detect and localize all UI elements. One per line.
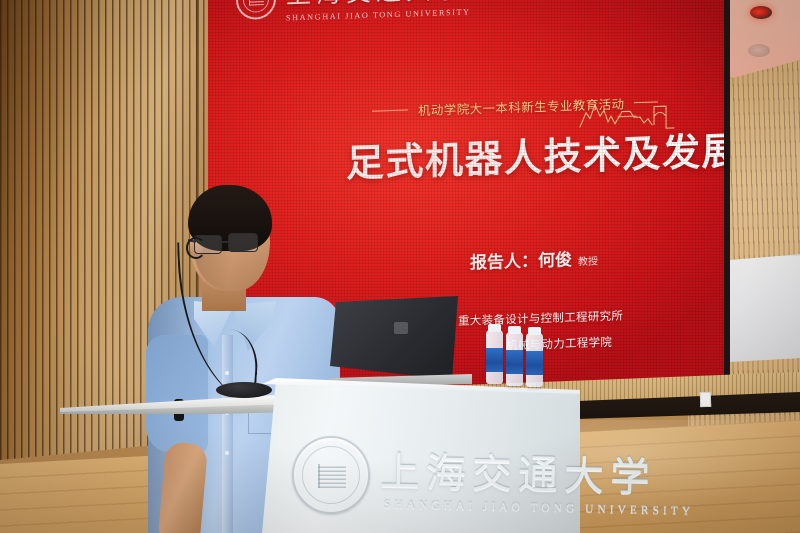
bottle-label bbox=[506, 350, 523, 374]
shirt-button bbox=[225, 451, 229, 455]
slide-university-logo: 上海交通大学 SHANGHAI JIAO TONG UNIVERSITY bbox=[236, 0, 496, 28]
forearm bbox=[158, 441, 208, 533]
light-switch[interactable] bbox=[700, 392, 711, 407]
ceiling-spotlight-icon bbox=[750, 6, 772, 19]
bottle-label bbox=[486, 348, 503, 372]
gold-rule-left bbox=[372, 109, 408, 112]
sjtu-seal-icon bbox=[292, 436, 370, 514]
slide-event-subtitle-row: 机动学院大一本科新生专业教育活动 bbox=[372, 90, 732, 121]
slide-title: 足式机器人技术及发展思考 bbox=[346, 132, 746, 185]
shirt-sleeve bbox=[146, 335, 208, 453]
slide-affiliation-institute: 重大装备设计与控制工程研究所 bbox=[458, 308, 623, 329]
whiteboard bbox=[728, 254, 800, 366]
bottle-label bbox=[526, 351, 543, 375]
microphone-base bbox=[216, 382, 272, 398]
slide-speaker-row: 报告人：何俊 教授 bbox=[470, 244, 598, 273]
bottle-cap bbox=[508, 326, 521, 334]
bottle-cap bbox=[488, 324, 501, 332]
sjtu-seal-icon bbox=[236, 0, 276, 20]
campus-skyline-icon bbox=[578, 84, 678, 135]
podium-name-cn: 上海交通大学 bbox=[379, 439, 656, 503]
slide-speaker-name: 报告人：何俊 bbox=[470, 245, 572, 273]
lecture-hall-photo: 上海交通大学 SHANGHAI JIAO TONG UNIVERSITY 机动学… bbox=[0, 0, 800, 533]
bottle-cap bbox=[528, 327, 541, 335]
ceiling-spotlight-icon bbox=[748, 44, 770, 57]
laptop-logo-icon bbox=[394, 322, 408, 334]
slide-speaker-rank: 教授 bbox=[578, 252, 598, 268]
